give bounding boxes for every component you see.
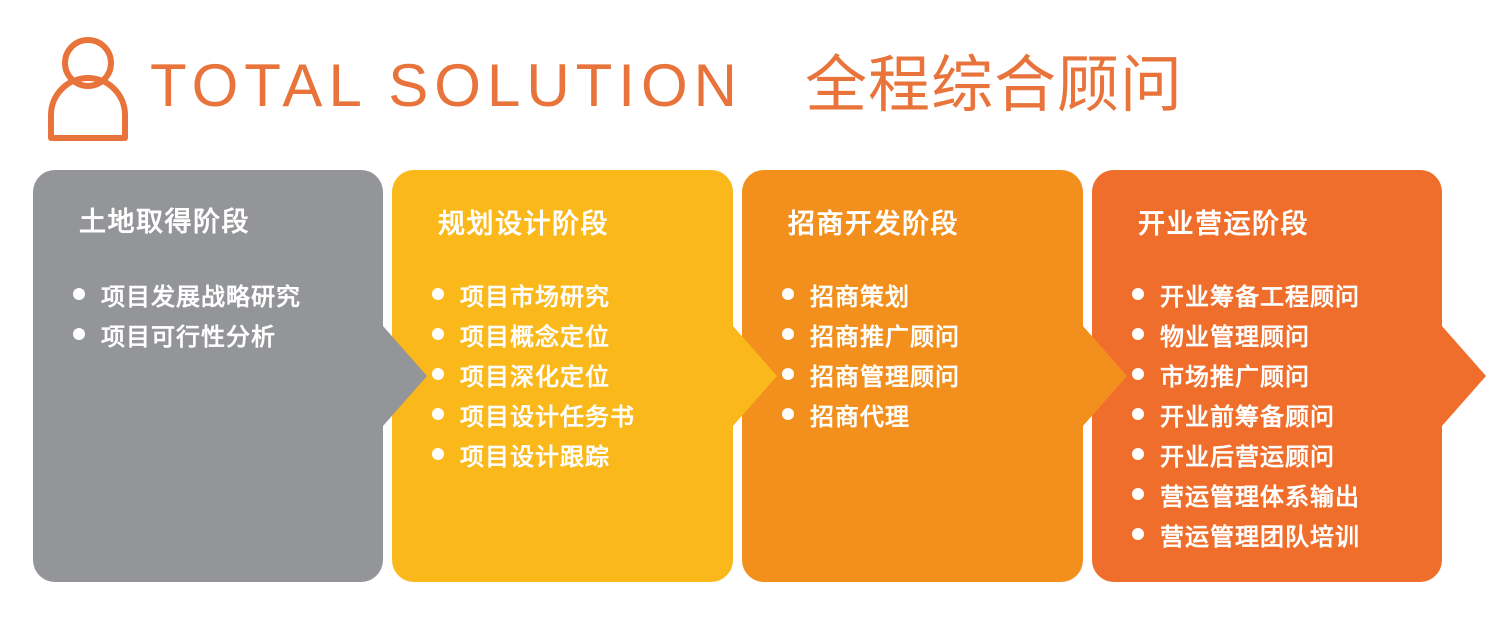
list-item[interactable]: 招商管理顾问 xyxy=(782,354,960,394)
person-icon xyxy=(41,33,153,145)
list-item[interactable]: 项目设计跟踪 xyxy=(432,434,635,474)
bullet-icon xyxy=(1132,528,1144,540)
bullet-icon xyxy=(1132,368,1144,380)
list-item[interactable]: 市场推广顾问 xyxy=(1132,354,1360,394)
bullet-icon xyxy=(782,368,794,380)
bullet-icon xyxy=(432,448,444,460)
stage-item-list: 项目市场研究 项目概念定位 项目深化定位 项目设计任务书 xyxy=(432,274,635,474)
stage-title: 土地取得阶段 xyxy=(79,200,250,239)
list-item-label: 市场推广顾问 xyxy=(1160,357,1310,392)
bullet-icon xyxy=(432,288,444,300)
page-title: TOTAL SOLUTION 全程综合顾问 xyxy=(150,48,1183,124)
list-item-label: 开业筹备工程顾问 xyxy=(1160,277,1360,312)
list-item-label: 营运管理团队培训 xyxy=(1160,517,1360,552)
list-item-label: 招商管理顾问 xyxy=(810,357,960,392)
bullet-icon xyxy=(432,408,444,420)
list-item[interactable]: 营运管理团队培训 xyxy=(1132,514,1360,554)
list-item[interactable]: 项目发展战略研究 xyxy=(73,274,301,314)
list-item-label: 项目发展战略研究 xyxy=(101,277,301,312)
list-item-label: 开业后营运顾问 xyxy=(1160,437,1335,472)
stage-card-planning-design[interactable]: 规划设计阶段 项目市场研究 项目概念定位 项目深化定位 xyxy=(392,170,733,582)
title-chinese: 全程综合顾问 xyxy=(805,48,1183,124)
stage-flow: 土地取得阶段 项目发展战略研究 项目可行性分析 规划设计阶段 xyxy=(0,170,1493,582)
bullet-icon xyxy=(73,288,85,300)
list-item[interactable]: 开业前筹备顾问 xyxy=(1132,394,1360,434)
list-item-label: 招商策划 xyxy=(810,277,910,312)
list-item-label: 开业前筹备顾问 xyxy=(1160,397,1335,432)
stage-title: 规划设计阶段 xyxy=(438,202,609,241)
bullet-icon xyxy=(1132,408,1144,420)
bullet-icon xyxy=(432,368,444,380)
list-item[interactable]: 开业筹备工程顾问 xyxy=(1132,274,1360,314)
bullet-icon xyxy=(73,328,85,340)
list-item-label: 物业管理顾问 xyxy=(1160,317,1310,352)
stage-title: 招商开发阶段 xyxy=(788,202,959,241)
header: TOTAL SOLUTION 全程综合顾问 xyxy=(0,0,1493,168)
list-item[interactable]: 项目深化定位 xyxy=(432,354,635,394)
list-item[interactable]: 营运管理体系输出 xyxy=(1132,474,1360,514)
list-item[interactable]: 物业管理顾问 xyxy=(1132,314,1360,354)
list-item[interactable]: 项目设计任务书 xyxy=(432,394,635,434)
list-item-label: 招商代理 xyxy=(810,397,910,432)
list-item[interactable]: 项目可行性分析 xyxy=(73,314,301,354)
bullet-icon xyxy=(1132,448,1144,460)
stage-card-land-acquisition[interactable]: 土地取得阶段 项目发展战略研究 项目可行性分析 xyxy=(33,170,383,582)
bullet-icon xyxy=(782,328,794,340)
list-item-label: 项目设计跟踪 xyxy=(460,437,610,472)
stage-card-tenant-development[interactable]: 招商开发阶段 招商策划 招商推广顾问 招商管理顾问 xyxy=(742,170,1083,582)
list-item[interactable]: 招商代理 xyxy=(782,394,960,434)
list-item[interactable]: 招商推广顾问 xyxy=(782,314,960,354)
bullet-icon xyxy=(432,328,444,340)
bullet-icon xyxy=(782,288,794,300)
bullet-icon xyxy=(1132,488,1144,500)
list-item-label: 项目深化定位 xyxy=(460,357,610,392)
list-item-label: 项目概念定位 xyxy=(460,317,610,352)
stage-item-list: 项目发展战略研究 项目可行性分析 xyxy=(73,274,301,354)
title-english: TOTAL SOLUTION xyxy=(150,48,743,124)
stage-item-list: 开业筹备工程顾问 物业管理顾问 市场推广顾问 开业前筹备顾问 xyxy=(1132,274,1360,554)
stage-item-list: 招商策划 招商推广顾问 招商管理顾问 招商代理 xyxy=(782,274,960,434)
list-item[interactable]: 招商策划 xyxy=(782,274,960,314)
stage-card-opening-operation[interactable]: 开业营运阶段 开业筹备工程顾问 物业管理顾问 市场推广顾问 xyxy=(1092,170,1442,582)
list-item-label: 招商推广顾问 xyxy=(810,317,960,352)
list-item-label: 项目可行性分析 xyxy=(101,317,276,352)
list-item[interactable]: 开业后营运顾问 xyxy=(1132,434,1360,474)
list-item[interactable]: 项目市场研究 xyxy=(432,274,635,314)
list-item-label: 营运管理体系输出 xyxy=(1160,477,1360,512)
bullet-icon xyxy=(1132,288,1144,300)
bullet-icon xyxy=(782,408,794,420)
list-item[interactable]: 项目概念定位 xyxy=(432,314,635,354)
stage-title: 开业营运阶段 xyxy=(1138,202,1309,241)
total-solution-infographic: TOTAL SOLUTION 全程综合顾问 土地取得阶段 项目发展战略研究 项目… xyxy=(0,0,1493,630)
list-item-label: 项目市场研究 xyxy=(460,277,610,312)
list-item-label: 项目设计任务书 xyxy=(460,397,635,432)
bullet-icon xyxy=(1132,328,1144,340)
